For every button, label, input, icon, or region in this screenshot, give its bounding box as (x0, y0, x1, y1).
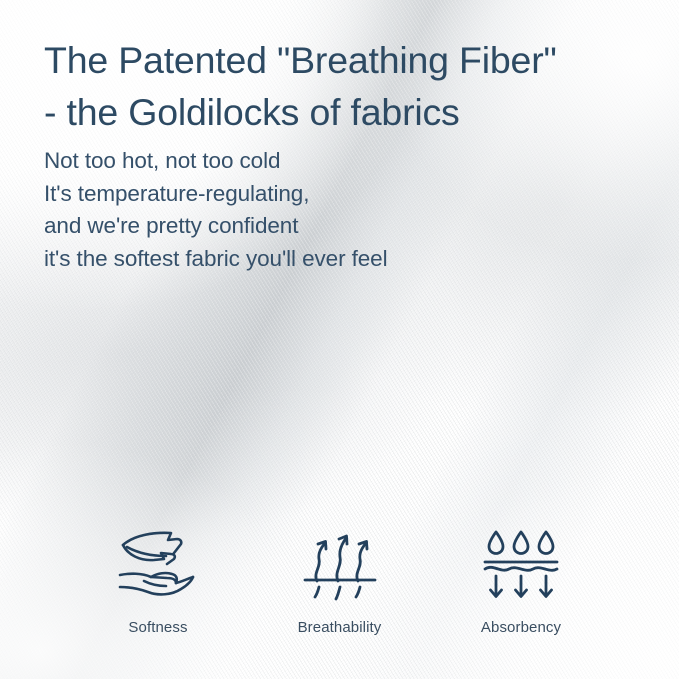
feature-label-absorbency: Absorbency (481, 619, 561, 637)
feature-label-softness: Softness (128, 619, 187, 637)
page-title: The Patented "Breathing Fiber" - the Gol… (44, 34, 654, 138)
water-droplets-absorb-icon (481, 528, 561, 602)
feature-item-breathability: Breathability (254, 528, 426, 637)
poster-content: The Patented "Breathing Fiber" - the Gol… (0, 0, 679, 679)
feature-item-absorbency: Absorbency (435, 528, 607, 637)
feather-on-hand-icon (114, 528, 202, 602)
feature-item-softness: Softness (72, 528, 244, 637)
feature-label-breathability: Breathability (298, 619, 382, 637)
feature-list: Softness (72, 528, 607, 637)
page-subtitle: Not too hot, not too cold It's temperatu… (44, 145, 564, 275)
rising-air-arrows-icon (301, 528, 379, 602)
fabric-feature-poster: The Patented "Breathing Fiber" - the Gol… (0, 0, 679, 679)
